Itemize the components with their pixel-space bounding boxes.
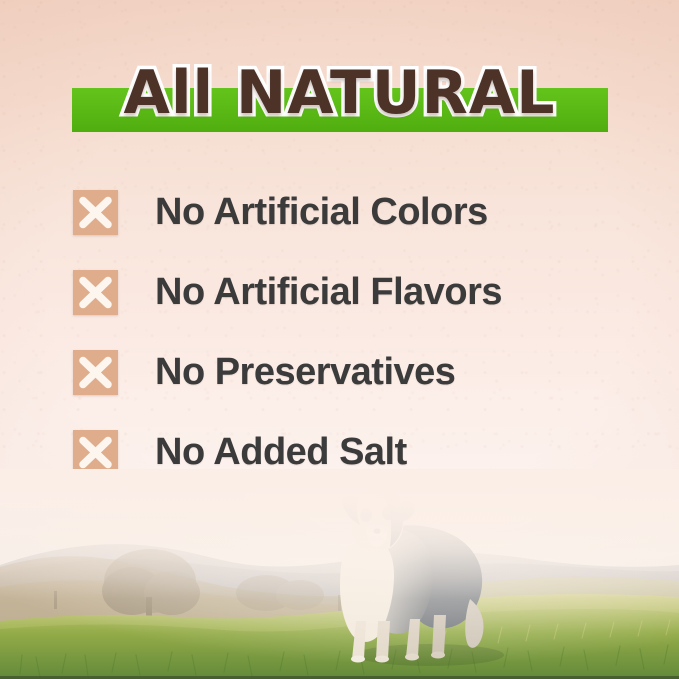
list-item: No Artificial Flavors — [0, 252, 679, 332]
list-item-label: No Artificial Colors — [155, 191, 488, 233]
x-mark-icon — [73, 350, 118, 395]
list-item: No Preservatives — [0, 332, 679, 412]
list-item: No Artificial Colors — [0, 172, 679, 252]
x-mark-icon — [73, 270, 118, 315]
list-item-label: No Added Salt — [155, 431, 407, 473]
list-item-label: No Artificial Flavors — [155, 271, 502, 313]
x-mark-icon — [73, 190, 118, 235]
headline-banner: All NATURAL — [0, 56, 679, 134]
claims-list: No Artificial Colors No Artificial Flavo… — [0, 172, 679, 492]
x-mark-icon — [73, 430, 118, 475]
all-natural-poster: All NATURAL No Artificial Colors — [0, 0, 679, 679]
list-item-label: No Preservatives — [155, 351, 455, 393]
page-title: All NATURAL — [0, 56, 679, 130]
dog-landscape-photo — [0, 469, 679, 679]
